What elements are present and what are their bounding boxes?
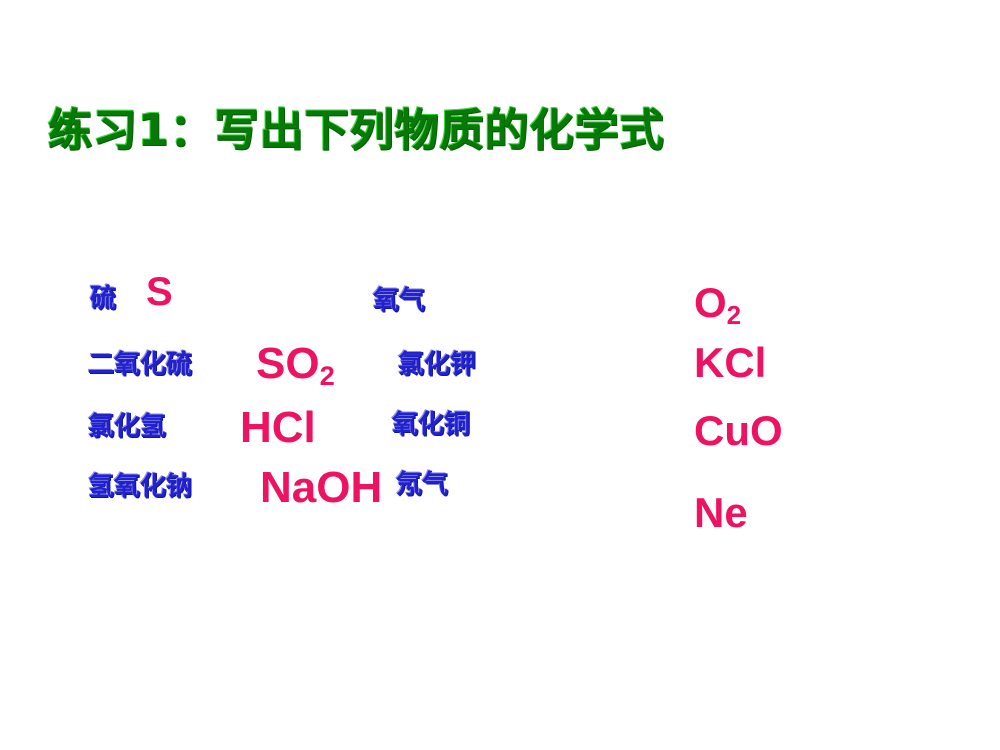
formula-sulfur-dioxide-subscript: 2 (320, 360, 335, 391)
label-potassium-chloride: 氯化钾 (398, 344, 476, 381)
formula-oxygen-gas: O2 (694, 282, 741, 324)
formula-oxygen-subscript: 2 (727, 300, 741, 330)
formula-sodium-hydroxide: NaOH (260, 466, 382, 510)
label-sodium-hydroxide: 氢氧化钠 (88, 466, 192, 503)
label-neon-gas: 氖气 (396, 464, 448, 501)
slide-canvas: 练习1：写出下列物质的化学式 硫 二氧化硫 氯化氢 氢氧化钠 S SO2 HCl… (0, 0, 1000, 750)
page-title: 练习1：写出下列物质的化学式 (48, 108, 665, 154)
label-hydrogen-chloride: 氯化氢 (88, 406, 166, 443)
label-sulfur-dioxide: 二氧化硫 (88, 344, 192, 381)
formula-potassium-chloride: KCl (694, 342, 766, 384)
formula-hydrogen-chloride: HCl (240, 406, 316, 450)
formula-sulfur: S (146, 272, 173, 312)
formula-sulfur-dioxide: SO2 (256, 342, 335, 386)
label-oxygen-gas: 氧气 (373, 280, 425, 317)
label-sulfur: 硫 (90, 278, 116, 315)
label-copper-oxide: 氧化铜 (392, 404, 470, 441)
formula-oxygen-base: O (694, 279, 727, 326)
formula-sulfur-dioxide-base: SO (256, 339, 320, 388)
formula-neon: Ne (694, 492, 748, 534)
formula-copper-oxide: CuO (694, 410, 783, 452)
